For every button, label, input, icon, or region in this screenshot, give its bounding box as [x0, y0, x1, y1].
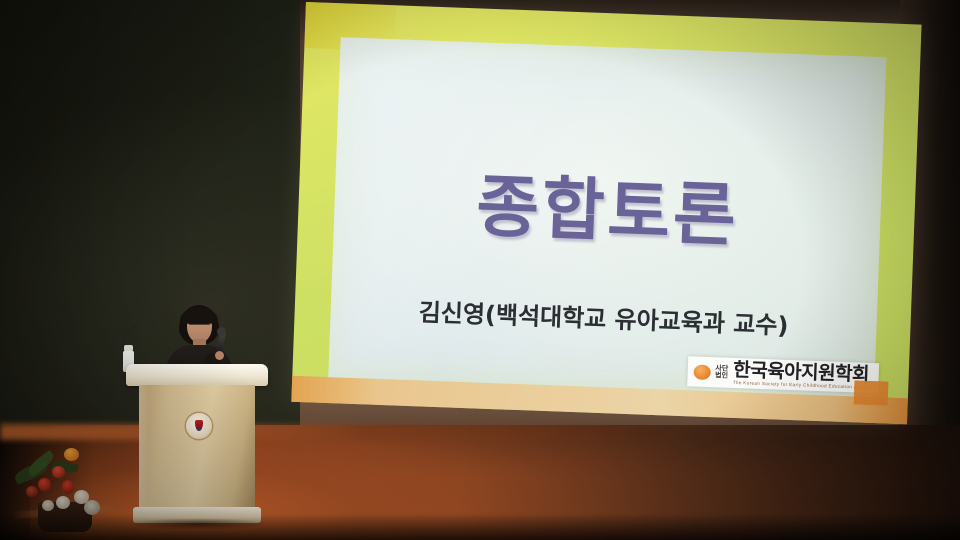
emblem-shield-icon [195, 420, 203, 431]
projection-screen: 종합토론 김신영(백석대학교 유아교육과 교수) 사단 법인 한국육아지원학회 … [291, 2, 921, 424]
logo-prefix-line-2: 법인 [715, 372, 728, 380]
flower-bloom [64, 448, 79, 461]
logo-text-block: 한국육아지원학회 The Korean Society for Early Ch… [733, 361, 871, 390]
podium-top-surface [126, 364, 268, 386]
flower-bloom [52, 466, 65, 478]
podium-shadow [127, 519, 269, 529]
slide-title: 종합토론 [333, 145, 882, 264]
logo-orange-accent [854, 380, 889, 405]
flower-bloom [26, 486, 38, 497]
speaker-hair-front [180, 307, 218, 324]
flower-bloom [62, 480, 74, 494]
glasses-icon [189, 324, 210, 331]
flower-arrangement [12, 438, 122, 534]
slide-subtitle: 김신영(백석대학교 유아교육과 교수) [330, 289, 877, 344]
microphone-head [217, 327, 226, 336]
slide-content-area: 종합토론 김신영(백석대학교 유아교육과 교수) 사단 법인 한국육아지원학회 … [328, 37, 886, 397]
stage-photograph: 종합토론 김신영(백석대학교 유아교육과 교수) 사단 법인 한국육아지원학회 … [0, 0, 960, 540]
society-logo: 사단 법인 한국육아지원학회 The Korean Society for Ea… [687, 356, 879, 393]
flower-bloom [38, 478, 51, 491]
podium-emblem-icon [186, 413, 212, 439]
sun-icon [693, 364, 711, 380]
podium [133, 364, 261, 529]
speaker-hand [215, 351, 224, 360]
flower-bloom-white [84, 500, 100, 515]
podium-front-panel [139, 385, 255, 509]
logo-prefix: 사단 법인 [715, 365, 728, 380]
water-bottle-cap [124, 345, 133, 351]
flower-bloom-white [42, 500, 54, 511]
flower-bloom-white [56, 496, 70, 509]
